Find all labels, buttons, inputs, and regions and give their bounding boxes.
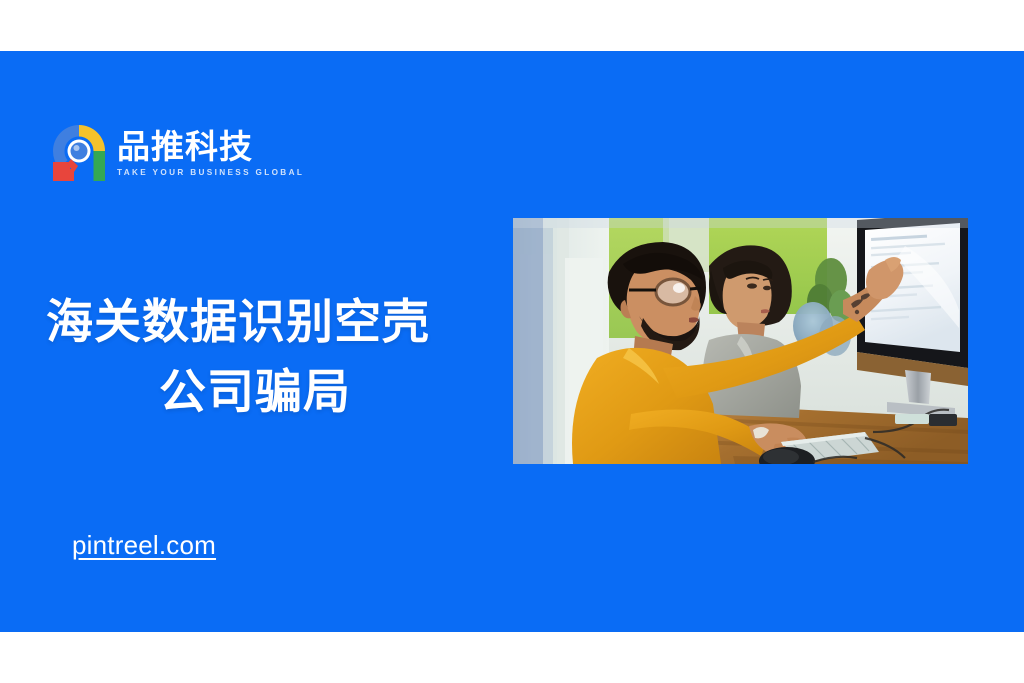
hero-photo xyxy=(513,218,968,464)
brand-name-cn: 品推科技 xyxy=(117,130,304,165)
page-title-line-1: 海关数据识别空壳 xyxy=(46,288,464,358)
slide-canvas: 品推科技 TAKE YOUR BUSINESS GLOBAL 海关数据识别空壳 … xyxy=(0,0,1024,683)
page-title-line-2: 公司骗局 xyxy=(46,358,464,428)
brand-logo-text: 品推科技 TAKE YOUR BUSINESS GLOBAL xyxy=(117,128,304,178)
brand-tagline: TAKE YOUR BUSINESS GLOBAL xyxy=(117,168,304,178)
brand-logo[interactable]: 品推科技 TAKE YOUR BUSINESS GLOBAL xyxy=(50,122,304,184)
pintreel-logo-mark-icon xyxy=(50,122,108,184)
page-title: 海关数据识别空壳 公司骗局 xyxy=(46,288,464,428)
site-url-link[interactable]: pintreel.com xyxy=(72,528,216,562)
